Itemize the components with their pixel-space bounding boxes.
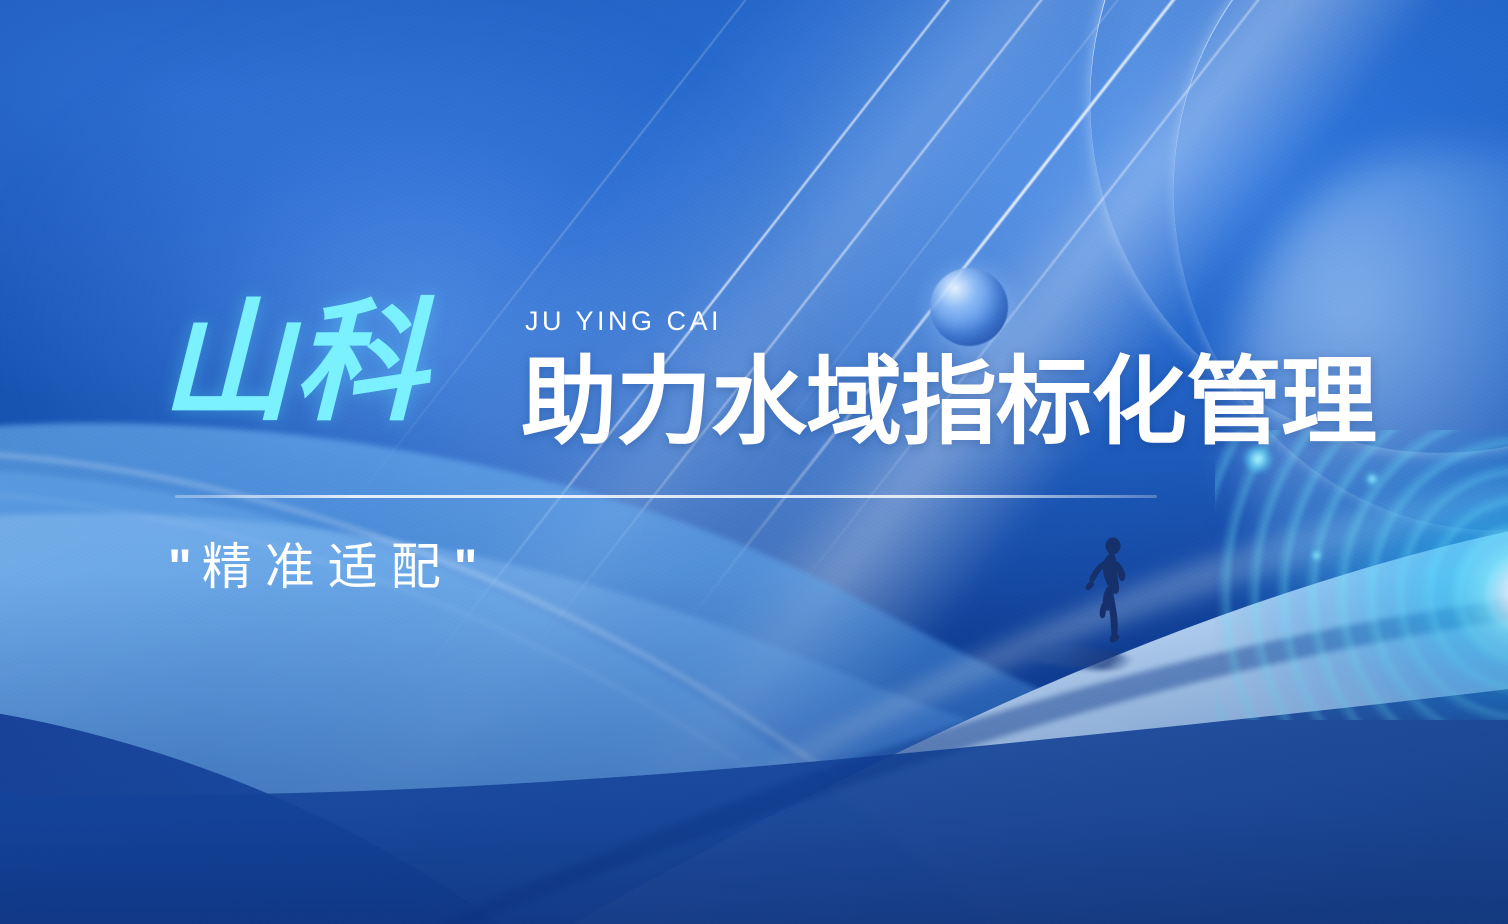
tagline: "精准适配" — [168, 537, 487, 598]
brand-name: 山科 — [160, 297, 428, 429]
headline: 助力水域指标化管理 — [521, 355, 1376, 451]
brand-pinyin: JU YING CAI — [525, 306, 722, 337]
tagline-open-quote: " — [168, 539, 202, 595]
tagline-close-quote: " — [454, 539, 488, 595]
promo-banner: 山科 JU YING CAI 助力水域指标化管理 "精准适配" — [0, 0, 1508, 924]
banner-content: 山科 JU YING CAI 助力水域指标化管理 "精准适配" — [0, 0, 1508, 924]
divider-line — [175, 495, 1157, 498]
tagline-text: 精准适配 — [202, 539, 454, 595]
